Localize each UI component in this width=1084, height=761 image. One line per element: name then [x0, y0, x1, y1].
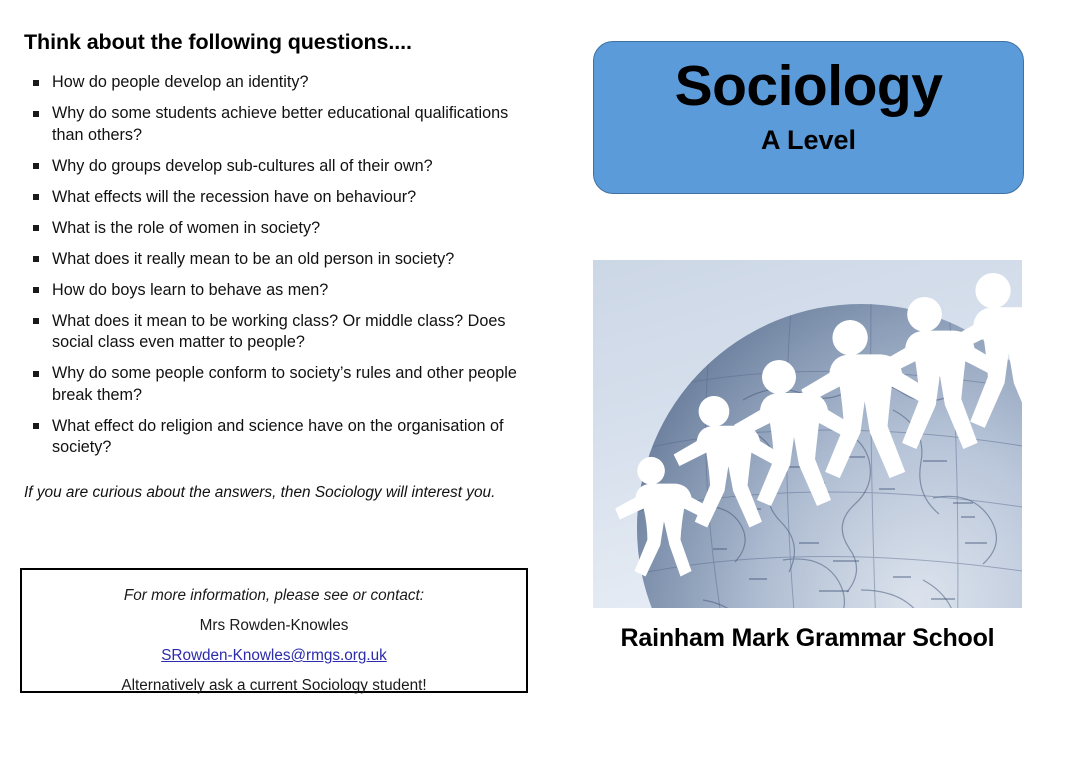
left-column: Think about the following questions.... …	[0, 0, 570, 761]
contact-alternative: Alternatively ask a current Sociology st…	[22, 671, 526, 701]
square-bullet-icon	[33, 225, 39, 231]
question-text: Why do groups develop sub-cultures all o…	[52, 157, 433, 175]
question-text: What does it really mean to be an old pe…	[52, 250, 454, 268]
banner-subtitle: A Level	[594, 123, 1023, 157]
list-item: What does it mean to be working class? O…	[24, 311, 536, 354]
contact-box: For more information, please see or cont…	[20, 568, 528, 693]
list-item: What effect do religion and science have…	[24, 416, 536, 459]
globe-people-illustration	[593, 260, 1022, 608]
globe-people-photo	[593, 260, 1022, 608]
question-text: Why do some students achieve better educ…	[52, 104, 508, 144]
question-text: What does it mean to be working class? O…	[52, 312, 505, 352]
contact-intro: For more information, please see or cont…	[22, 581, 526, 611]
closing-statement: If you are curious about the answers, th…	[24, 484, 495, 502]
banner-title: Sociology	[594, 50, 1023, 122]
school-name-caption: Rainham Mark Grammar School	[593, 624, 1022, 653]
square-bullet-icon	[33, 287, 39, 293]
question-text: What is the role of women in society?	[52, 219, 320, 237]
square-bullet-icon	[33, 163, 39, 169]
contact-name: Mrs Rowden-Knowles	[22, 611, 526, 641]
list-item: How do people develop an identity?	[24, 72, 536, 94]
square-bullet-icon	[33, 256, 39, 262]
square-bullet-icon	[33, 80, 39, 86]
square-bullet-icon	[33, 194, 39, 200]
list-item: Why do some students achieve better educ…	[24, 103, 536, 146]
list-item: How do boys learn to behave as men?	[24, 280, 536, 302]
question-text: What effect do religion and science have…	[52, 417, 503, 457]
contact-email-link[interactable]: SRowden-Knowles@rmgs.org.uk	[161, 647, 387, 664]
question-text: How do boys learn to behave as men?	[52, 281, 328, 299]
square-bullet-icon	[33, 371, 39, 377]
question-text: Why do some people conform to society’s …	[52, 364, 517, 404]
list-item: Why do groups develop sub-cultures all o…	[24, 156, 536, 178]
questions-list: How do people develop an identity? Why d…	[24, 72, 536, 468]
title-banner: Sociology A Level	[593, 41, 1024, 194]
list-item: What is the role of women in society?	[24, 218, 536, 240]
list-item: What effects will the recession have on …	[24, 187, 536, 209]
list-item: What does it really mean to be an old pe…	[24, 249, 536, 271]
page-title: Think about the following questions....	[24, 30, 412, 55]
square-bullet-icon	[33, 423, 39, 429]
list-item: Why do some people conform to society’s …	[24, 363, 536, 406]
square-bullet-icon	[33, 318, 39, 324]
square-bullet-icon	[33, 111, 39, 117]
question-text: What effects will the recession have on …	[52, 188, 416, 206]
question-text: How do people develop an identity?	[52, 73, 309, 91]
right-column: Sociology A Level	[570, 0, 1084, 761]
